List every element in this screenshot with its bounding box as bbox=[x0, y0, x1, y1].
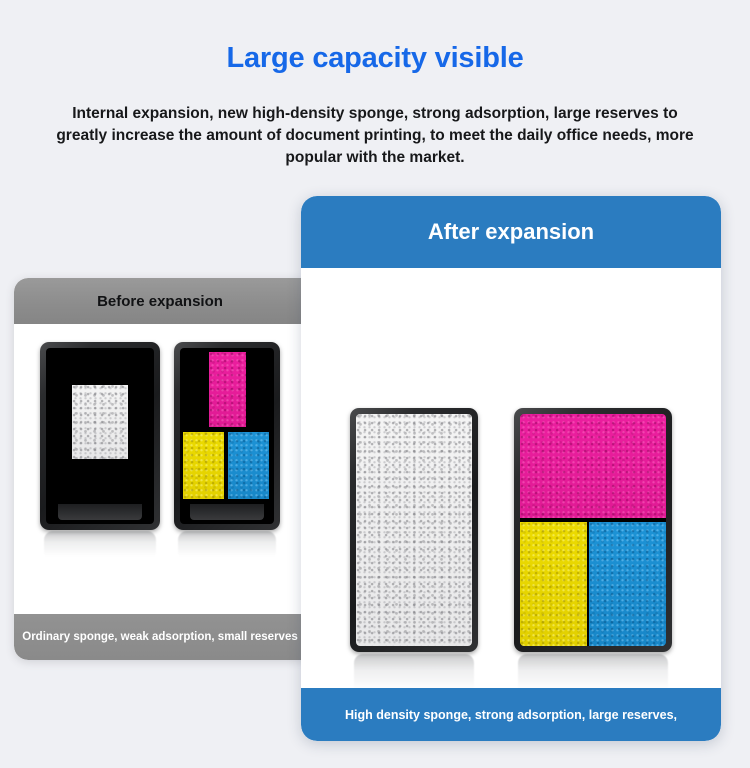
before-panel-image-area bbox=[14, 324, 306, 614]
cartridge-cavity bbox=[520, 414, 666, 646]
after-panel-header: After expansion bbox=[301, 196, 721, 268]
cartridge-cavity bbox=[46, 348, 154, 524]
cartridge-reflection bbox=[44, 531, 156, 561]
page-subtitle: Internal expansion, new high-density spo… bbox=[45, 103, 705, 169]
color-cartridge-before bbox=[174, 342, 280, 530]
sponge-fill-cyan-small bbox=[228, 432, 269, 499]
after-panel-image-area bbox=[301, 268, 721, 688]
black-cartridge-before bbox=[40, 342, 160, 530]
black-cartridge-after bbox=[350, 408, 478, 652]
cartridge-cavity bbox=[356, 414, 472, 646]
before-panel-caption: Ordinary sponge, weak adsorption, small … bbox=[14, 614, 306, 660]
before-panel-header: Before expansion bbox=[14, 278, 306, 324]
cartridge-lip bbox=[58, 504, 142, 520]
sponge-fill-white-small bbox=[72, 385, 128, 459]
before-expansion-panel: Before expansion Ordinary sponge, weak a… bbox=[14, 278, 306, 660]
color-cartridge-after bbox=[514, 408, 672, 652]
cartridge-lip bbox=[190, 504, 263, 520]
sponge-fill-yellow-small bbox=[183, 432, 224, 499]
cartridge-reflection bbox=[178, 531, 276, 561]
cartridge-cavity bbox=[180, 348, 274, 524]
sponge-fill-magenta-small bbox=[209, 352, 246, 428]
sponge-fill-yellow-full bbox=[520, 522, 587, 646]
sponge-fill-magenta-full bbox=[520, 414, 666, 518]
page-title: Large capacity visible bbox=[0, 42, 750, 75]
sponge-fill-white-full bbox=[356, 414, 472, 646]
sponge-fill-cyan-full bbox=[589, 522, 666, 646]
after-panel-caption: High density sponge, strong adsorption, … bbox=[301, 688, 721, 741]
after-expansion-panel: After expansion High density sponge, str… bbox=[301, 196, 721, 741]
